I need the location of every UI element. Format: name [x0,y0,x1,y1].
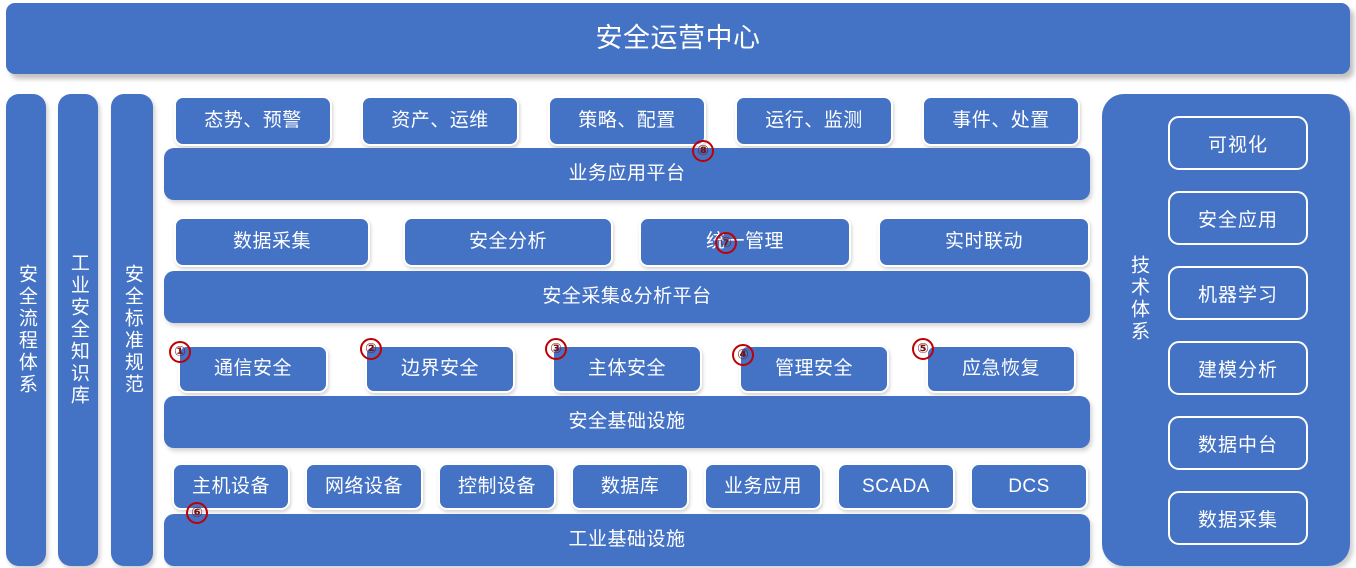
pillar-industrial-security-knowledge-base: 工业安全知识库 [58,94,98,566]
tech-item-visualization[interactable]: 可视化 [1168,116,1308,170]
band-industrial-infrastructure: 工业基础设施 [164,514,1090,566]
marker-5: ⑤ [912,338,934,360]
chip-dcs[interactable]: DCS [970,463,1088,510]
band-security-collection-analysis-platform: 安全采集&分析平台 [164,271,1090,323]
pillar-security-standards: 安全标准规范 [111,94,153,566]
chip-asset-ops[interactable]: 资产、运维 [361,96,519,146]
chip-realtime-linkage[interactable]: 实时联动 [878,217,1090,267]
band-security-infrastructure: 安全基础设施 [164,396,1090,448]
page-title: 安全运营中心 [6,3,1350,74]
marker-3: ③ [545,338,567,360]
marker-4: ④ [732,344,754,366]
chip-network-device[interactable]: 网络设备 [305,463,423,510]
chip-control-device[interactable]: 控制设备 [438,463,556,510]
technology-system-label: 技术体系 [1112,255,1152,343]
chip-unified-management[interactable]: 统一管理 [639,217,851,267]
tech-item-data-midend[interactable]: 数据中台 [1168,416,1308,470]
tech-item-modeling-analysis[interactable]: 建模分析 [1168,341,1308,395]
chip-data-collection[interactable]: 数据采集 [174,217,370,267]
pillar-security-process-system: 安全流程体系 [6,94,46,566]
chip-subject-security[interactable]: 主体安全 [552,345,702,393]
marker-2: ② [360,338,382,360]
chip-scada[interactable]: SCADA [837,463,955,510]
marker-7: ⑦ [715,232,737,254]
chip-operation-monitoring[interactable]: 运行、监测 [735,96,893,146]
chip-boundary-security[interactable]: 边界安全 [365,345,515,393]
chip-emergency-recovery[interactable]: 应急恢复 [926,345,1076,393]
diagram-canvas: 安全运营中心 安全流程体系 工业安全知识库 安全标准规范 业务应用平台 态势、预… [0,0,1356,568]
chip-communication-security[interactable]: 通信安全 [178,345,328,393]
chip-database[interactable]: 数据库 [571,463,689,510]
chip-event-handling[interactable]: 事件、处置 [922,96,1080,146]
chip-business-application[interactable]: 业务应用 [704,463,822,510]
marker-8: ⑧ [692,140,714,162]
tech-item-machine-learning[interactable]: 机器学习 [1168,266,1308,320]
chip-policy-config[interactable]: 策略、配置 [548,96,706,146]
marker-6: ⑥ [186,502,208,524]
chip-situation-warning[interactable]: 态势、预警 [174,96,332,146]
band-business-application-platform: 业务应用平台 [164,148,1090,200]
chip-security-analysis[interactable]: 安全分析 [403,217,613,267]
tech-item-data-collection[interactable]: 数据采集 [1168,491,1308,545]
chip-management-security[interactable]: 管理安全 [739,345,889,393]
chip-host-device[interactable]: 主机设备 [172,463,290,510]
tech-item-security-application[interactable]: 安全应用 [1168,191,1308,245]
marker-1: ① [169,341,191,363]
